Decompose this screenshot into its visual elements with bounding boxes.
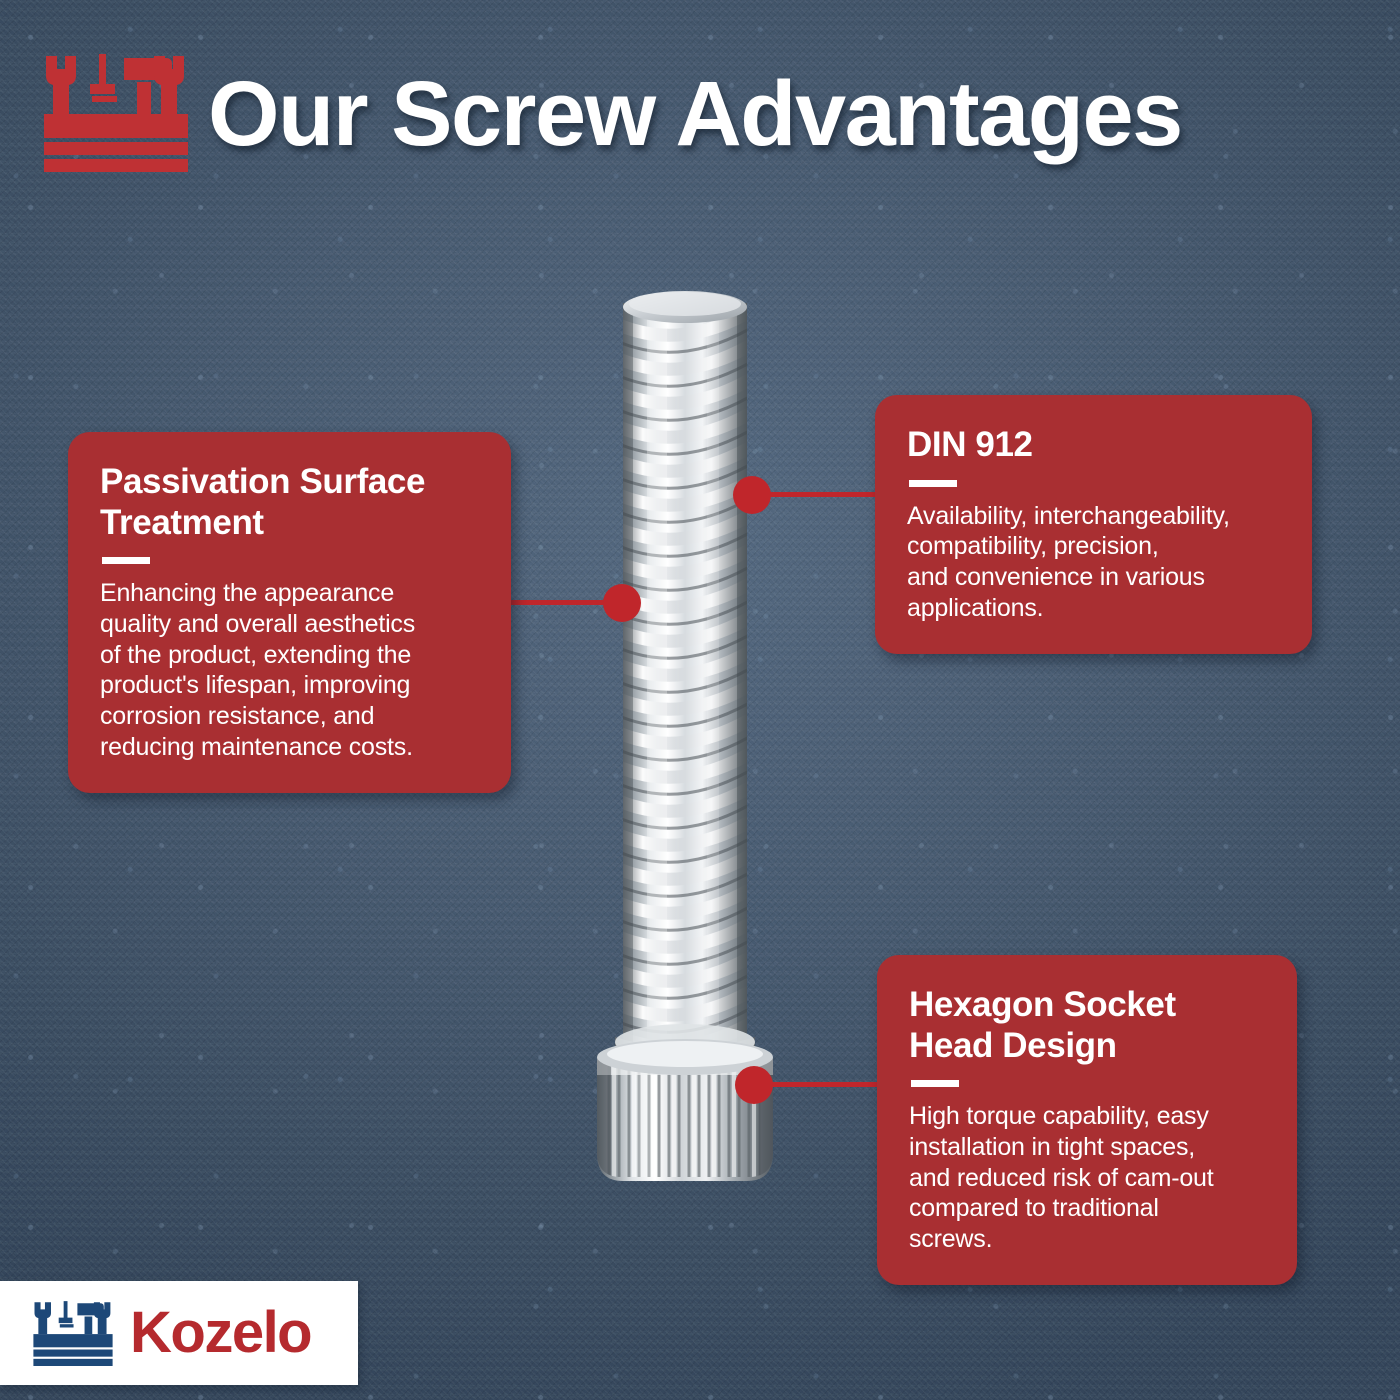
- callout-card-passivation[interactable]: Passivation Surface Treatment Enhancing …: [68, 432, 511, 793]
- card-title: DIN 912: [907, 425, 1278, 466]
- title-divider: [911, 1080, 959, 1087]
- card-body: Availability, interchangeability, compat…: [907, 501, 1278, 624]
- card-body: Enhancing the appearance quality and ove…: [100, 578, 477, 763]
- callout-card-hexagon-socket[interactable]: Hexagon Socket Head Design High torque c…: [877, 955, 1297, 1285]
- page-title: Our Screw Advantages: [208, 62, 1182, 167]
- screw-product-image: [575, 285, 835, 1195]
- brand-logo-panel[interactable]: Kozelo: [0, 1281, 358, 1385]
- callout-card-din912[interactable]: DIN 912 Availability, interchangeability…: [875, 395, 1312, 654]
- card-body: High torque capability, easy installatio…: [909, 1101, 1263, 1255]
- toolbox-icon: [32, 1300, 114, 1366]
- toolbox-icon: [42, 52, 190, 172]
- connector-dot: [603, 584, 641, 622]
- title-divider: [102, 557, 150, 564]
- header: Our Screw Advantages: [0, 0, 1400, 200]
- brand-name: Kozelo: [130, 1304, 311, 1362]
- card-title: Passivation Surface Treatment: [100, 462, 477, 543]
- connector-line: [763, 492, 878, 497]
- card-title: Hexagon Socket Head Design: [909, 985, 1263, 1066]
- connector-line: [765, 1082, 880, 1087]
- title-divider: [909, 480, 957, 487]
